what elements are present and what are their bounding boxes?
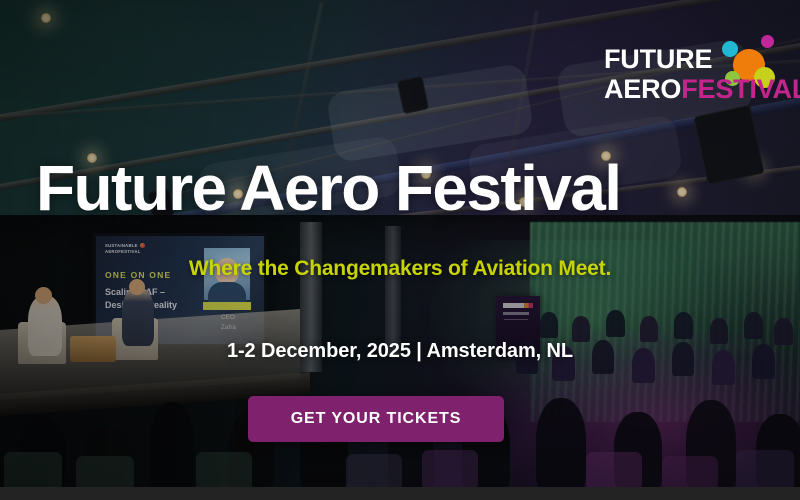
get-tickets-button[interactable]: GET YOUR TICKETS xyxy=(248,396,504,442)
logo-text-aero: AERO xyxy=(604,74,681,104)
logo-text-future: FUTURE xyxy=(604,46,712,73)
logo-text-aerofestival: AEROFESTIVAL xyxy=(604,76,800,103)
logo-magenta-circle-icon xyxy=(761,35,774,48)
page-bottom-bar xyxy=(0,487,800,500)
hero-banner: SUSTAINABLE AEROFESTIVAL ONE ON ONE Scal… xyxy=(0,0,800,487)
hero-subtitle: Where the Changemakers of Aviation Meet. xyxy=(0,257,800,281)
hero-date-location: 1-2 December, 2025 | Amsterdam, NL xyxy=(0,340,800,363)
logo-text-festival: FESTIVAL xyxy=(681,74,800,104)
festival-logo[interactable]: FUTURE AEROFESTIVAL xyxy=(604,36,782,108)
page-title: Future Aero Festival xyxy=(36,156,766,220)
logo-cyan-circle-icon xyxy=(722,41,738,57)
